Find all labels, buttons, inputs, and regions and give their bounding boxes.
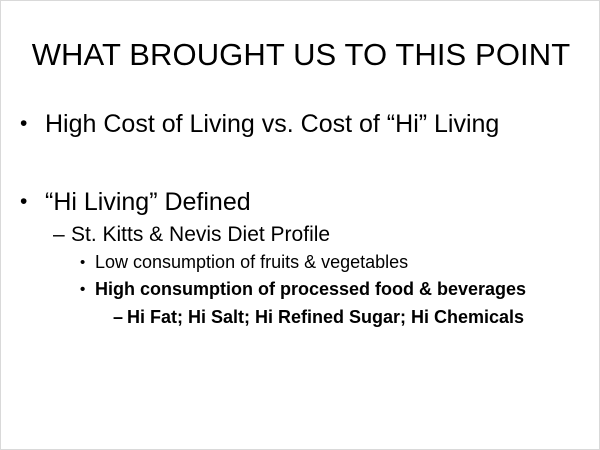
bullet-marker-dot: •: [20, 105, 27, 143]
bullet-text: “Hi Living” Defined: [45, 183, 251, 221]
bullet-text: High Cost of Living vs. Cost of “Hi” Liv…: [45, 105, 499, 143]
bullet-text: St. Kitts & Nevis Diet Profile: [71, 221, 330, 249]
slide-body: • High Cost of Living vs. Cost of “Hi” L…: [1, 105, 600, 331]
presentation-slide: WHAT BROUGHT US TO THIS POINT • High Cos…: [0, 0, 600, 450]
bullet-level3-low-consumption: • Low consumption of fruits & vegetables: [1, 249, 600, 276]
bullet-level2-diet-profile: – St. Kitts & Nevis Diet Profile: [1, 221, 600, 249]
bullet-marker-dot: •: [20, 183, 27, 221]
bullet-spacer: [1, 143, 600, 183]
bullet-level3-high-consumption: • High consumption of processed food & b…: [1, 276, 600, 303]
bullet-marker-dash: –: [53, 221, 65, 249]
bullet-level1-cost-of-living: • High Cost of Living vs. Cost of “Hi” L…: [1, 105, 600, 143]
bullet-marker-dash: –: [113, 303, 123, 331]
bullet-marker-dot: •: [80, 276, 85, 303]
bullet-text: Low consumption of fruits & vegetables: [95, 249, 408, 276]
bullet-marker-dot: •: [80, 249, 85, 276]
bullet-text: High consumption of processed food & bev…: [95, 276, 526, 303]
bullet-level4-hi-fat-salt-sugar-chemicals: – Hi Fat; Hi Salt; Hi Refined Sugar; Hi …: [1, 303, 600, 331]
slide-title: WHAT BROUGHT US TO THIS POINT: [1, 37, 600, 73]
bullet-level1-hi-living-defined: • “Hi Living” Defined: [1, 183, 600, 221]
bullet-text: Hi Fat; Hi Salt; Hi Refined Sugar; Hi Ch…: [127, 303, 524, 331]
